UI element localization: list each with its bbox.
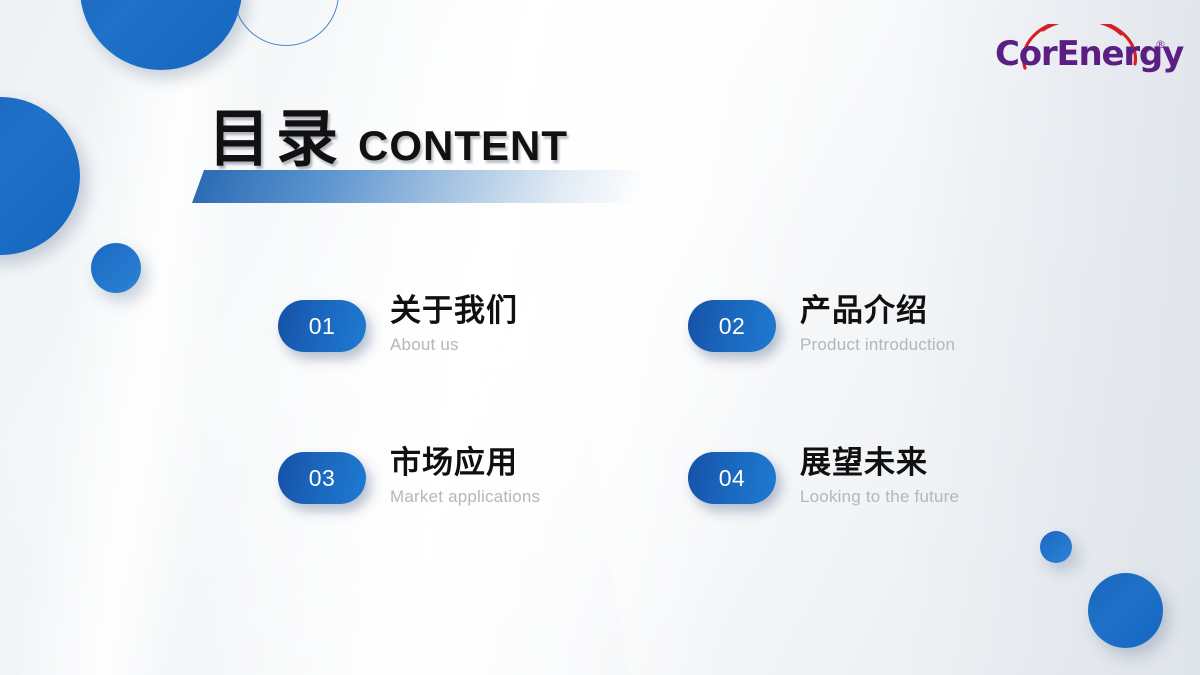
contents-grid: 01 关于我们 About us 02 产品介绍 Product introdu…	[278, 292, 998, 520]
content-title-cn-01: 关于我们	[390, 292, 518, 332]
content-number-badge-03[interactable]: 03	[278, 452, 366, 504]
content-title-cn-03: 市场应用	[390, 444, 540, 484]
title-chinese: 目录	[208, 108, 344, 170]
content-number-01: 01	[309, 313, 336, 340]
content-title-en-04: Looking to the future	[800, 487, 959, 507]
content-title-en-02: Product introduction	[800, 335, 955, 355]
brand-logo: CorEnergy ®	[995, 22, 1185, 84]
content-title-cn-02: 产品介绍	[800, 292, 955, 332]
content-labels-02: 产品介绍 Product introduction	[800, 292, 955, 355]
content-labels-04: 展望未来 Looking to the future	[800, 444, 959, 507]
content-title-en-01: About us	[390, 335, 518, 355]
content-labels-01: 关于我们 About us	[390, 292, 518, 355]
content-item-03[interactable]: 03 市场应用 Market applications	[278, 444, 688, 520]
content-number-03: 03	[309, 465, 336, 492]
blue-outline-ring-top-icon	[233, 0, 339, 46]
blue-circle-bottom-right-icon	[1088, 573, 1163, 648]
content-title-en-03: Market applications	[390, 487, 540, 507]
blue-circle-small-left-icon	[91, 243, 141, 293]
blue-circle-large-top-icon	[80, 0, 242, 70]
content-number-04: 04	[719, 465, 746, 492]
content-number-02: 02	[719, 313, 746, 340]
content-labels-03: 市场应用 Market applications	[390, 444, 540, 507]
content-title-cn-04: 展望未来	[800, 444, 959, 484]
content-number-badge-01[interactable]: 01	[278, 300, 366, 352]
content-item-04[interactable]: 04 展望未来 Looking to the future	[688, 444, 998, 520]
blue-circle-large-left-icon	[0, 97, 80, 255]
content-item-01[interactable]: 01 关于我们 About us	[278, 292, 688, 368]
content-number-badge-02[interactable]: 02	[688, 300, 776, 352]
title-english: CONTENT	[358, 125, 568, 167]
content-number-badge-04[interactable]: 04	[688, 452, 776, 504]
page-title: 目录 CONTENT	[190, 108, 830, 218]
brand-trademark-symbol: ®	[1155, 38, 1166, 51]
content-item-02[interactable]: 02 产品介绍 Product introduction	[688, 292, 998, 368]
slide-canvas: CorEnergy ® 目录 CONTENT 01 关于我们 About us …	[0, 0, 1200, 675]
blue-circle-small-right-icon	[1040, 531, 1072, 563]
title-text-group: 目录 CONTENT	[208, 108, 568, 170]
